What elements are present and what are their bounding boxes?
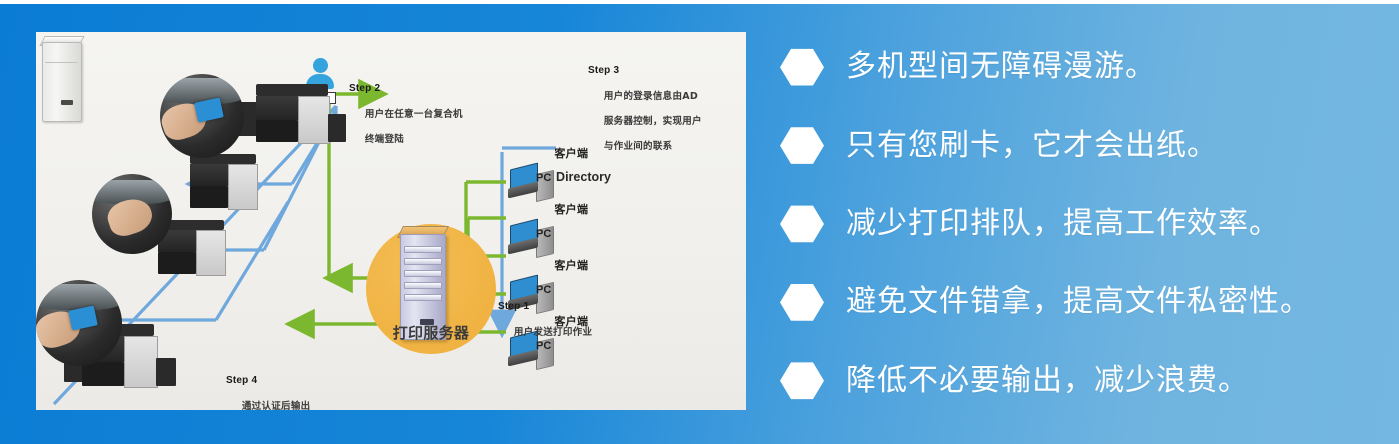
active-directory-server <box>36 32 88 124</box>
step-2-text: Step 2 用户在任意一台复合机 终端登陆 <box>349 58 463 159</box>
hexagon-bullet-icon <box>780 126 824 165</box>
benefit-text-4: 避免文件错拿，提高文件私密性。 <box>846 285 1311 319</box>
benefit-text-1: 多机型间无障碍漫游。 <box>846 50 1156 84</box>
hexagon-bullet-icon <box>780 204 824 243</box>
benefit-row-5: 降低不必要输出，减少浪费。 <box>780 342 1380 420</box>
workflow-diagram-panel: 登录 <box>36 32 746 410</box>
top-white-strip <box>0 0 1399 4</box>
print-server-label: 打印服务器 <box>366 322 496 343</box>
step-1-text: Step 1 用户发送打印作业 <box>498 276 592 352</box>
slide-root: 登录 <box>0 0 1399 444</box>
benefit-text-3: 减少打印排队，提高工作效率。 <box>846 207 1280 241</box>
photo-card-tap-2 <box>92 174 172 254</box>
mfp-device-2 <box>186 152 282 218</box>
photo-card-tap-3 <box>36 280 122 366</box>
benefits-list: 多机型间无障碍漫游。 只有您刷卡，它才会出纸。 减少打印排队，提高工作效率。 避… <box>780 28 1380 420</box>
step-3-text: Step 3 用户的登录信息由AD 服务器控制，实现用户 与作业间的联系 <box>588 40 702 166</box>
user-head-icon <box>313 58 328 73</box>
benefit-row-3: 减少打印排队，提高工作效率。 <box>780 185 1380 263</box>
step-4-text: Step 4 通过认证后输出 打印文档 <box>226 350 310 410</box>
hexagon-bullet-icon <box>780 48 824 87</box>
mfp-device-1 <box>236 80 346 150</box>
benefit-row-1: 多机型间无障碍漫游。 <box>780 28 1380 106</box>
benefit-text-2: 只有您刷卡，它才会出纸。 <box>846 129 1218 163</box>
hexagon-bullet-icon <box>780 283 824 322</box>
benefit-text-5: 降低不必要输出，减少浪费。 <box>846 364 1249 398</box>
benefit-row-4: 避免文件错拿，提高文件私密性。 <box>780 263 1380 341</box>
hexagon-bullet-icon <box>780 361 824 400</box>
photo-card-tap-1 <box>160 74 244 158</box>
benefit-row-2: 只有您刷卡，它才会出纸。 <box>780 106 1380 184</box>
